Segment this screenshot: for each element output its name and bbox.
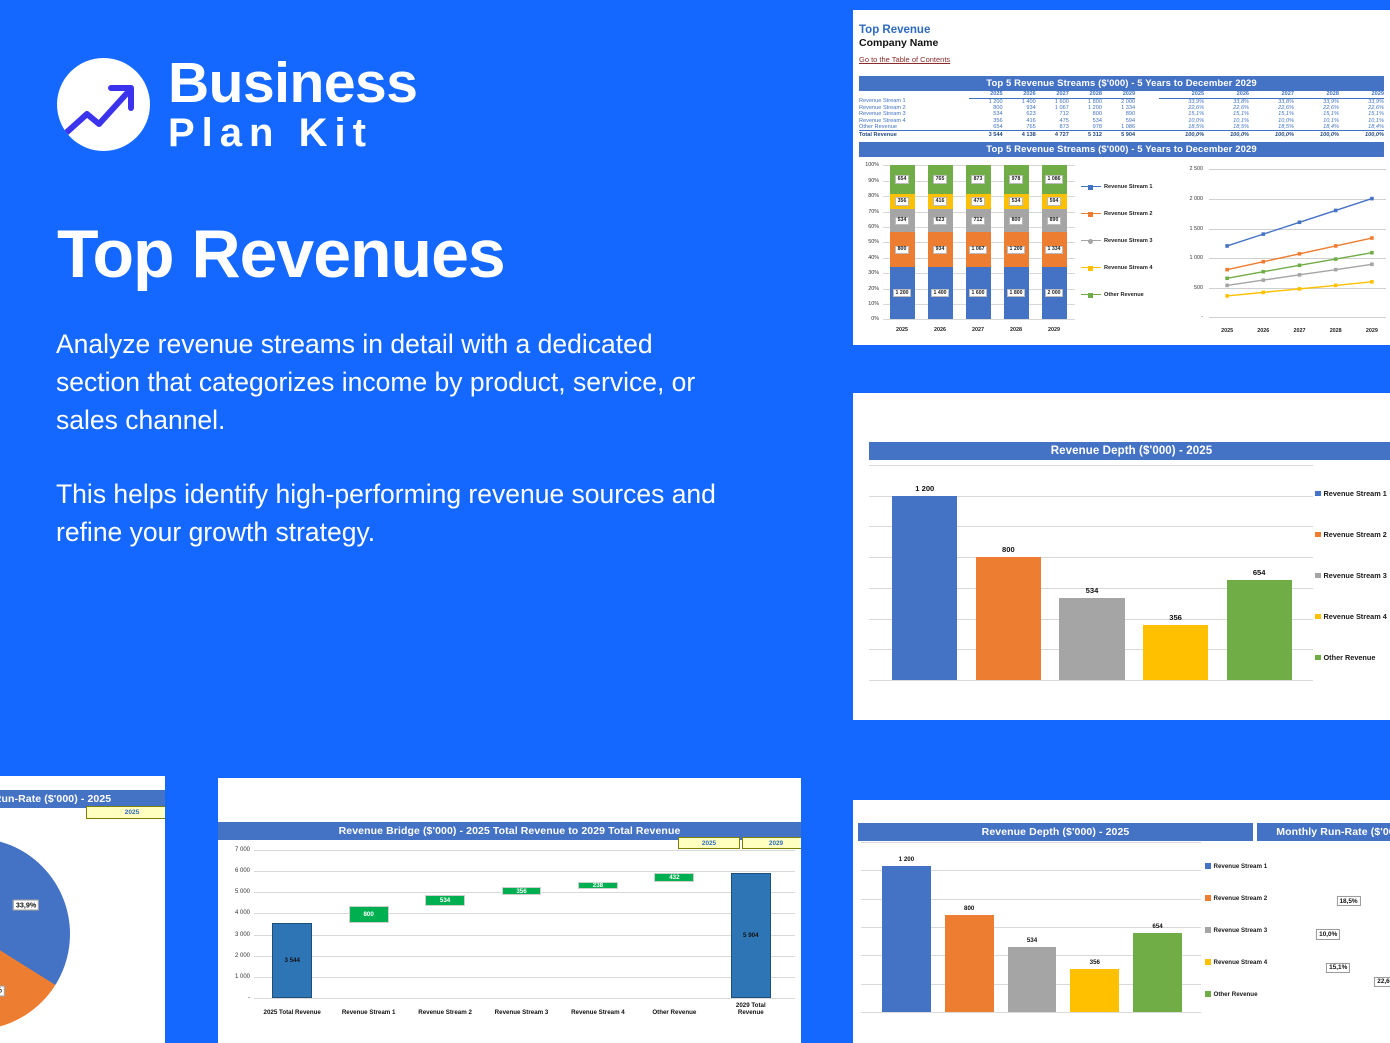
legend-item: Other Revenue xyxy=(1205,978,1275,1010)
year-selector-dropdown[interactable]: 2025 xyxy=(86,806,165,819)
legend-item: Revenue Stream 2 xyxy=(1205,882,1275,914)
hero-description: Analyze revenue streams in detail with a… xyxy=(56,326,736,551)
bar-rect xyxy=(1227,580,1292,680)
bar-value-label: 534 xyxy=(895,217,909,225)
bar-column: 1 200 xyxy=(883,465,967,680)
bar-value-label: 594 xyxy=(1047,197,1061,205)
table-header-row: 2025202620272028202920252026202720282029 xyxy=(859,91,1384,98)
bar-value-label: 800 xyxy=(1009,217,1023,225)
bar-value-label: 890 xyxy=(1047,217,1061,225)
bar-value-label: 1 086 xyxy=(1045,175,1063,183)
stacked-bar-segment: 534 xyxy=(890,209,915,232)
legend-swatch-icon xyxy=(1315,532,1321,538)
legend-label: Revenue Stream 4 xyxy=(1214,959,1268,966)
stacked-bar-segment: 978 xyxy=(1004,165,1029,193)
bar-value-label: 534 xyxy=(1009,197,1023,205)
legend-label: Revenue Stream 2 xyxy=(1324,530,1387,539)
stacked-bar-segment: 800 xyxy=(1004,209,1029,232)
stacked-bar-column: 7654166239341 400 xyxy=(928,165,953,319)
bar-rect xyxy=(882,866,931,1012)
bar-rect xyxy=(945,915,994,1012)
logo-text-secondary: Plan Kit xyxy=(168,114,417,152)
bar-value-label: 765 xyxy=(933,175,947,183)
bar-rect xyxy=(1143,625,1208,680)
pie-slice-label: 22,6% xyxy=(1374,977,1390,987)
bar-column: 654 xyxy=(1217,465,1301,680)
bar-value-label: 432 xyxy=(669,874,679,881)
legend-label: Revenue Stream 1 xyxy=(1324,489,1387,498)
bar-value-label: 934 xyxy=(933,246,947,254)
bar-value-label: 356 xyxy=(1090,959,1100,966)
stacked-column-chart: 0%10%20%30%40%50%60%70%80%90%100%6543565… xyxy=(857,161,1075,337)
pie-slice-label: 10,0% xyxy=(1316,929,1340,939)
bar-value-label: 1 400 xyxy=(931,289,949,297)
monthly-run-rate-pie-chart xyxy=(0,838,70,1030)
legend-swatch-icon xyxy=(1205,991,1211,997)
stacked-bar-segment: 1 200 xyxy=(890,267,915,319)
waterfall-total-bar: 5 904 xyxy=(731,873,771,998)
legend-item: Revenue Stream 3 xyxy=(1315,555,1390,596)
chart-banner: Top 5 Revenue Streams ($'000) - 5 Years … xyxy=(859,142,1384,157)
hero-paragraph-1: Analyze revenue streams in detail with a… xyxy=(56,326,736,440)
waterfall-delta-bar: 238 xyxy=(578,882,618,889)
bar-value-label: 800 xyxy=(363,911,373,918)
stacked-bar-segment: 356 xyxy=(890,194,915,209)
pie-slice-label: 33,9% xyxy=(13,900,39,911)
legend-swatch-icon xyxy=(1205,927,1211,933)
sheet-header: Top Revenue Company Name Go to the Table… xyxy=(853,10,1390,67)
bar-value-label: 654 xyxy=(895,175,909,183)
bridge-to-year-value: 2029 xyxy=(769,840,783,847)
legend-label: Revenue Stream 1 xyxy=(1214,863,1268,870)
legend-item: Revenue Stream 2 xyxy=(1081,200,1179,227)
stacked-bar-segment: 534 xyxy=(1004,194,1029,209)
revenue-depth-bar-chart: 1 200800534356654 xyxy=(869,465,1313,680)
bar-value-label: 1 200 xyxy=(893,289,911,297)
line-series-group xyxy=(1177,161,1390,337)
bar-value-label: 2 000 xyxy=(1045,289,1063,297)
bridge-from-year-dropdown[interactable]: 2025 xyxy=(678,837,740,849)
year-selector-value: 2025 xyxy=(125,809,140,816)
bar-column: 1 200 xyxy=(875,842,938,1012)
bar-value-label: 238 xyxy=(593,882,603,889)
stacked-chart-legend: Revenue Stream 1Revenue Stream 2Revenue … xyxy=(1081,173,1179,308)
bar-value-label: 534 xyxy=(1027,937,1037,944)
bar-value-label: 3 544 xyxy=(284,957,299,964)
revenue-depth-legend-2: Revenue Stream 1Revenue Stream 2Revenue … xyxy=(1205,850,1275,1010)
stacked-bar-column: 9785348001 2001 800 xyxy=(1004,165,1029,319)
legend-item: Revenue Stream 4 xyxy=(1081,254,1179,281)
bar-value-label: 978 xyxy=(1009,175,1023,183)
table-row: Other Revenue6547658739781 08618,5%18,5%… xyxy=(859,124,1384,131)
stacked-bar-segment: 1 334 xyxy=(1042,232,1067,267)
stacked-bar-segment: 1 800 xyxy=(1004,267,1029,319)
legend-label: Other Revenue xyxy=(1104,292,1144,298)
waterfall-delta-bar: 432 xyxy=(654,873,694,882)
bar-rect xyxy=(976,557,1041,680)
bar-value-label: 654 xyxy=(1253,568,1266,577)
bar-rect xyxy=(1070,969,1119,1012)
revenue-depth-bar-chart-2: 1 200800534356654 xyxy=(861,842,1201,1012)
stacked-bar-column: 6543565348001 200 xyxy=(890,165,915,319)
pie-slice-label: 22,6% xyxy=(0,985,5,996)
legend-item: Revenue Stream 1 xyxy=(1205,850,1275,882)
table-banner: Top 5 Revenue Streams ($'000) - 5 Years … xyxy=(859,76,1384,91)
legend-item: Revenue Stream 4 xyxy=(1315,596,1390,637)
legend-item: Revenue Stream 1 xyxy=(1315,473,1390,514)
stacked-bar-segment: 934 xyxy=(928,232,953,267)
legend-line-icon xyxy=(1081,213,1101,214)
hero-section: Business Plan Kit Top Revenues Analyze r… xyxy=(0,0,820,775)
legend-label: Other Revenue xyxy=(1214,991,1258,998)
brand-logo: Business Plan Kit xyxy=(57,56,417,152)
stacked-bar-segment: 873 xyxy=(966,165,991,193)
legend-label: Revenue Stream 3 xyxy=(1214,927,1268,934)
bar-value-label: 356 xyxy=(516,888,526,895)
bar-column: 534 xyxy=(1001,842,1064,1012)
legend-swatch-icon xyxy=(1205,863,1211,869)
stacked-bar-segment: 416 xyxy=(928,194,953,209)
bar-value-label: 1 067 xyxy=(969,246,987,254)
bar-value-label: 873 xyxy=(971,175,985,183)
bar-rect xyxy=(1008,947,1057,1012)
legend-swatch-icon xyxy=(1315,573,1321,579)
stacked-bar-segment: 1 200 xyxy=(1004,232,1029,267)
revenue-depth-legend: Revenue Stream 1Revenue Stream 2Revenue … xyxy=(1315,473,1390,678)
legend-swatch-icon xyxy=(1315,655,1321,661)
bar-value-label: 1 334 xyxy=(1045,246,1063,254)
bar-rect xyxy=(892,496,957,680)
bar-column: 534 xyxy=(1050,465,1134,680)
logo-text-primary: Business xyxy=(168,56,417,110)
bar-value-label: 1 200 xyxy=(915,484,934,493)
bar-value-label: 356 xyxy=(1169,613,1182,622)
growth-arrow-circle-icon xyxy=(57,58,150,151)
bar-value-label: 1 600 xyxy=(969,289,987,297)
bar-column: 356 xyxy=(1134,465,1218,680)
bar-value-label: 1 200 xyxy=(1007,246,1025,254)
stacked-bar-segment: 594 xyxy=(1042,194,1067,209)
pie-slice-label: 15,1% xyxy=(1326,963,1350,973)
stacked-bar-segment: 1 086 xyxy=(1042,165,1067,193)
bar-value-label: 534 xyxy=(1086,586,1099,595)
sheet-title: Top Revenue xyxy=(859,24,1390,36)
legend-item: Revenue Stream 4 xyxy=(1205,946,1275,978)
legend-line-icon xyxy=(1081,267,1101,268)
pie-slice-label: 18,5% xyxy=(1336,896,1360,906)
bar-value-label: 534 xyxy=(440,897,450,904)
table-row: Total Revenue3 5444 1384 7275 3125 90410… xyxy=(859,131,1384,138)
bar-value-label: 1 800 xyxy=(1007,289,1025,297)
legend-swatch-icon xyxy=(1205,959,1211,965)
bar-column: 800 xyxy=(967,465,1051,680)
bar-rect xyxy=(1133,933,1182,1012)
legend-line-icon xyxy=(1081,294,1101,295)
legend-label: Revenue Stream 3 xyxy=(1104,238,1153,244)
bar-value-label: 1 200 xyxy=(899,856,914,863)
legend-label: Revenue Stream 4 xyxy=(1324,612,1387,621)
legend-label: Other Revenue xyxy=(1324,653,1376,662)
stacked-bar-segment: 654 xyxy=(890,165,915,193)
bar-value-label: 5 904 xyxy=(743,932,758,939)
bridge-to-year-dropdown[interactable]: 2029 xyxy=(742,837,801,849)
stacked-bar-segment: 1 400 xyxy=(928,267,953,319)
table-row: Revenue Stream 11 2001 4001 6001 8002 00… xyxy=(859,98,1384,105)
waterfall-delta-bar: 800 xyxy=(349,906,389,923)
bar-value-label: 800 xyxy=(1002,545,1015,554)
page-title: Top Revenues xyxy=(57,215,505,293)
bar-rect xyxy=(1059,598,1124,680)
stacked-bar-column: 8734757121 0671 600 xyxy=(966,165,991,319)
stacked-bar-segment: 1 600 xyxy=(966,267,991,319)
panel-a-charts: 0%10%20%30%40%50%60%70%80%90%100%6543565… xyxy=(857,157,1386,343)
legend-line-icon xyxy=(1081,186,1101,187)
legend-item: Revenue Stream 3 xyxy=(1205,914,1275,946)
bottom-combo-panel: Revenue Depth ($'000) - 2025 Monthly Run… xyxy=(853,800,1390,1043)
legend-swatch-icon xyxy=(1315,614,1321,620)
bar-value-label: 416 xyxy=(933,197,947,205)
legend-item: Other Revenue xyxy=(1315,637,1390,678)
company-name: Company Name xyxy=(859,37,1390,49)
bar-column: 356 xyxy=(1063,842,1126,1012)
table-body: Revenue Stream 11 2001 4001 6001 8002 00… xyxy=(859,98,1384,138)
legend-item: Other Revenue xyxy=(1081,281,1179,308)
hero-paragraph-2: This helps identify high-performing reve… xyxy=(56,476,736,552)
stacked-bar-segment: 890 xyxy=(1042,209,1067,232)
stacked-bar-segment: 475 xyxy=(966,194,991,209)
legend-item: Revenue Stream 2 xyxy=(1315,514,1390,555)
legend-item: Revenue Stream 3 xyxy=(1081,227,1179,254)
monthly-run-rate-banner-2: Monthly Run-Rate ($'000) - 2025 xyxy=(1257,823,1390,841)
bar-value-label: 800 xyxy=(895,246,909,254)
legend-item: Revenue Stream 1 xyxy=(1081,173,1179,200)
legend-label: Revenue Stream 4 xyxy=(1104,265,1153,271)
legend-label: Revenue Stream 1 xyxy=(1104,184,1153,190)
stacked-bar-segment: 623 xyxy=(928,209,953,232)
bar-value-label: 800 xyxy=(964,905,974,912)
monthly-run-rate-panel: Run-Rate ($'000) - 2025 2025 33,9%22,6%1… xyxy=(0,776,165,1043)
spreadsheet-panel-top-revenue: Top Revenue Company Name Go to the Table… xyxy=(853,10,1390,345)
legend-label: Revenue Stream 2 xyxy=(1214,895,1268,902)
stacked-bar-column: 1 0865948901 3342 000 xyxy=(1042,165,1067,319)
stacked-bar-segment: 712 xyxy=(966,209,991,232)
revenue-depth-banner: Revenue Depth ($'000) - 2025 xyxy=(869,442,1390,460)
stacked-bar-segment: 765 xyxy=(928,165,953,193)
revenue-depth-banner-2: Revenue Depth ($'000) - 2025 xyxy=(858,823,1253,841)
revenue-trend-line-chart: -5001 0001 5002 0002 5002025202620272028… xyxy=(1177,161,1386,337)
stacked-bar-segment: 2 000 xyxy=(1042,267,1067,319)
revenue-bridge-waterfall-chart: -1 0002 0003 0004 0005 0006 0007 0003 54… xyxy=(224,850,795,1020)
bar-value-label: 654 xyxy=(1152,923,1162,930)
legend-swatch-icon xyxy=(1205,895,1211,901)
legend-line-icon xyxy=(1081,240,1101,241)
bar-value-label: 356 xyxy=(895,197,909,205)
revenue-streams-table: 2025202620272028202920252026202720282029… xyxy=(859,91,1384,138)
revenue-bridge-panel: Revenue Bridge ($'000) - 2025 Total Reve… xyxy=(218,778,801,1043)
legend-label: Revenue Stream 2 xyxy=(1104,211,1153,217)
legend-swatch-icon xyxy=(1315,491,1321,497)
bridge-from-year-value: 2025 xyxy=(702,840,716,847)
revenue-depth-panel: Revenue Depth ($'000) - 2025 1 200800534… xyxy=(853,393,1390,720)
bar-value-label: 623 xyxy=(933,217,947,225)
bar-value-label: 475 xyxy=(971,197,985,205)
waterfall-total-bar: 3 544 xyxy=(272,923,312,998)
waterfall-delta-bar: 356 xyxy=(502,887,542,895)
bar-column: 800 xyxy=(938,842,1001,1012)
bar-value-label: 712 xyxy=(971,217,985,225)
legend-label: Revenue Stream 3 xyxy=(1324,571,1387,580)
stacked-bar-segment: 1 067 xyxy=(966,232,991,267)
table-of-contents-link[interactable]: Go to the Table of Contents xyxy=(859,55,950,64)
waterfall-delta-bar: 534 xyxy=(425,895,465,906)
stacked-bar-segment: 800 xyxy=(890,232,915,267)
bar-column: 654 xyxy=(1126,842,1189,1012)
